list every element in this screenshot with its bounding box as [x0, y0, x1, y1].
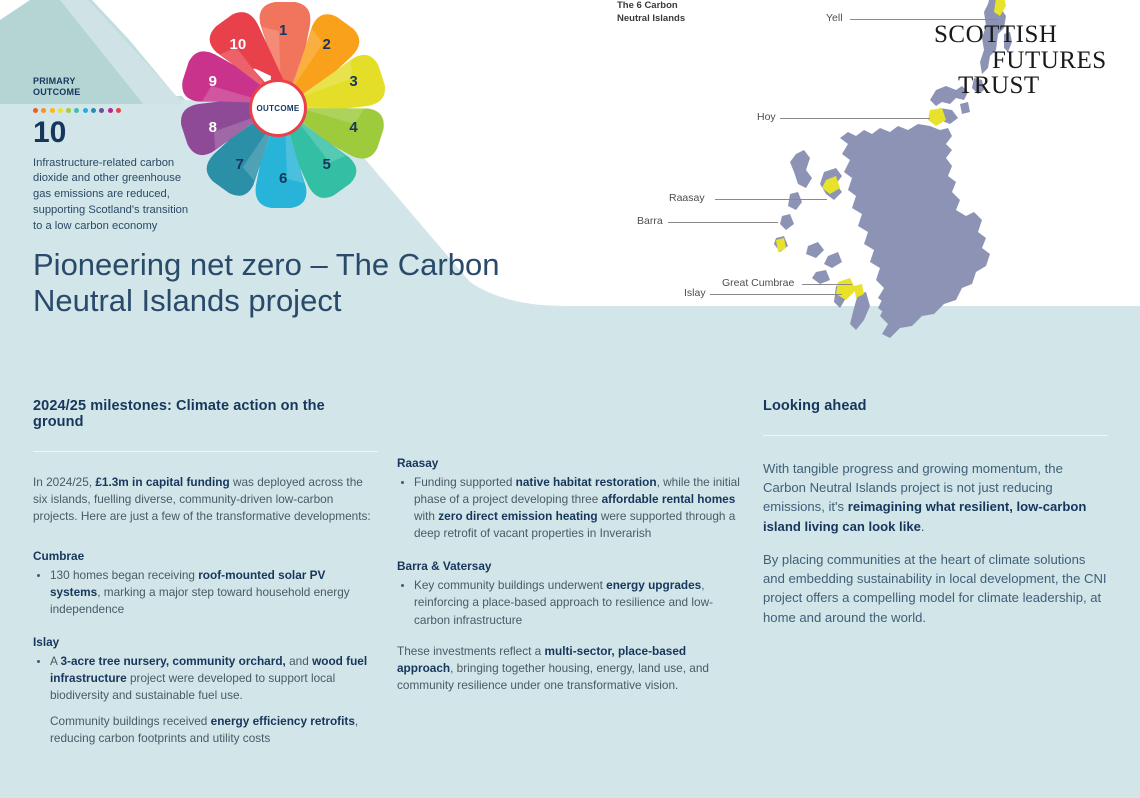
petal-number-1: 1	[279, 23, 287, 38]
logo-line-futures: FUTURES	[930, 48, 1130, 74]
mid-closing-paragraph: These investments reflect a multi-sector…	[397, 643, 742, 694]
list-item: Key community buildings underwent energy…	[397, 577, 742, 628]
primary-outcome-description: Infrastructure-related carbon dioxide an…	[33, 156, 193, 236]
outcome-dot-7	[83, 108, 88, 113]
islay-b1-bold1: 3-acre tree nursery, community orchard,	[61, 654, 286, 668]
map-label-great-cumbrae: Great Cumbrae	[722, 277, 794, 289]
petal-number-9: 9	[209, 74, 217, 89]
barra-b1-bold: energy upgrades	[606, 578, 701, 592]
petal-number-4: 4	[349, 120, 357, 135]
outcome-dot-9	[99, 108, 104, 113]
infographic-page: PRIMARY OUTCOME 10 Infrastructure-relate…	[0, 0, 1140, 798]
looking-ahead-paragraph-1: With tangible progress and growing momen…	[763, 459, 1108, 536]
islay-p-bold: energy efficiency retrofits	[211, 714, 355, 728]
logo-line-trust: TRUST	[930, 73, 1130, 99]
outcome-color-dots	[33, 108, 193, 113]
outcome-badge-label: OUTCOME	[257, 104, 300, 113]
outcome-dot-1	[33, 108, 38, 113]
scottish-futures-trust-logo: SCOTTISH FUTURES TRUST	[930, 22, 1130, 99]
closing-a: These investments reflect a	[397, 644, 545, 658]
body-section: 2024/25 milestones: Climate action on th…	[0, 372, 1140, 798]
raasay-b1-bold2: affordable rental homes	[602, 492, 736, 506]
raasay-b1-a: Funding supported	[414, 475, 516, 489]
raasay-b1-bold1: native habitat restoration	[516, 475, 657, 489]
primary-outcome-label-line2: OUTCOME	[33, 87, 80, 97]
subhead-islay: Islay	[33, 635, 378, 649]
leader-line-hoy	[780, 118, 930, 119]
petal-number-2: 2	[322, 37, 330, 52]
map-caption: The 6 Carbon Neutral Islands	[617, 0, 747, 26]
outcome-badge: OUTCOME	[249, 79, 307, 137]
looking-ahead-heading: Looking ahead	[763, 398, 1108, 414]
islay-paragraph: Community buildings received energy effi…	[33, 713, 378, 747]
subhead-cumbrae: Cumbrae	[33, 549, 378, 563]
outcome-dot-6	[74, 108, 79, 113]
leader-line-yell	[850, 19, 998, 20]
petal-number-8: 8	[209, 120, 217, 135]
barra-b1-a: Key community buildings underwent	[414, 578, 606, 592]
islay-bullets: A 3-acre tree nursery, community orchard…	[33, 653, 378, 704]
la-p1-c: .	[921, 519, 925, 534]
outcome-dot-3	[50, 108, 55, 113]
islay-p-a: Community buildings received	[50, 714, 211, 728]
column-milestones: 2024/25 milestones: Climate action on th…	[33, 372, 378, 747]
map-label-islay: Islay	[684, 287, 706, 299]
outcome-dot-10	[108, 108, 113, 113]
map-label-barra: Barra	[637, 215, 663, 227]
outcome-dot-5	[66, 108, 71, 113]
map-label-raasay: Raasay	[669, 192, 705, 204]
outcome-dot-8	[91, 108, 96, 113]
petal-number-10: 10	[230, 37, 247, 52]
raasay-b1-bold3: zero direct emission heating	[438, 509, 597, 523]
petal-number-3: 3	[349, 74, 357, 89]
leader-line-great-cumbrae	[802, 284, 852, 285]
list-item: A 3-acre tree nursery, community orchard…	[33, 653, 378, 704]
primary-outcome-block: PRIMARY OUTCOME 10 Infrastructure-relate…	[33, 76, 193, 235]
petal-number-5: 5	[322, 157, 330, 172]
logo-line-scottish: SCOTTISH	[930, 22, 1130, 48]
petal-number-7: 7	[236, 157, 244, 172]
intro-text-a: In 2024/25,	[33, 475, 95, 489]
subhead-raasay: Raasay	[397, 456, 742, 470]
map-caption-line1: The 6 Carbon	[617, 0, 678, 11]
map-caption-line2: Neutral Islands	[617, 13, 685, 24]
islay-b1-a: A	[50, 654, 61, 668]
cumbrae-bullets: 130 homes began receiving roof-mounted s…	[33, 567, 378, 618]
milestones-heading: 2024/25 milestones: Climate action on th…	[33, 398, 378, 430]
intro-text-bold: £1.3m in capital funding	[95, 475, 229, 489]
primary-outcome-number: 10	[33, 118, 193, 148]
hero-section: PRIMARY OUTCOME 10 Infrastructure-relate…	[0, 0, 1140, 372]
raasay-b1-e: with	[414, 509, 438, 523]
milestones-divider	[33, 451, 378, 452]
list-item: Funding supported native habitat restora…	[397, 474, 742, 542]
leader-line-barra	[668, 222, 778, 223]
cumbrae-b1-a: 130 homes began receiving	[50, 568, 198, 582]
leader-line-islay	[710, 294, 842, 295]
outcome-dot-4	[58, 108, 63, 113]
looking-ahead-divider	[763, 435, 1108, 436]
column-looking-ahead: Looking ahead With tangible progress and…	[763, 372, 1108, 627]
subhead-barra-vatersay: Barra & Vatersay	[397, 559, 742, 573]
map-label-yell: Yell	[826, 12, 843, 24]
petal-number-6: 6	[279, 171, 287, 186]
outcome-dot-11	[116, 108, 121, 113]
milestones-intro: In 2024/25, £1.3m in capital funding was…	[33, 474, 378, 526]
primary-outcome-label: PRIMARY OUTCOME	[33, 76, 193, 99]
raasay-bullets: Funding supported native habitat restora…	[397, 474, 742, 542]
outcome-dot-2	[41, 108, 46, 113]
leader-line-raasay	[715, 199, 827, 200]
column-islands-detail: Raasay Funding supported native habitat …	[397, 372, 742, 694]
looking-ahead-paragraph-2: By placing communities at the heart of c…	[763, 550, 1108, 627]
page-title: Pioneering net zero – The Carbon Neutral…	[33, 247, 513, 320]
primary-outcome-label-line1: PRIMARY	[33, 76, 76, 86]
map-label-hoy: Hoy	[757, 111, 776, 123]
islay-b1-c: and	[286, 654, 312, 668]
barra-bullets: Key community buildings underwent energy…	[397, 577, 742, 628]
list-item: 130 homes began receiving roof-mounted s…	[33, 567, 378, 618]
